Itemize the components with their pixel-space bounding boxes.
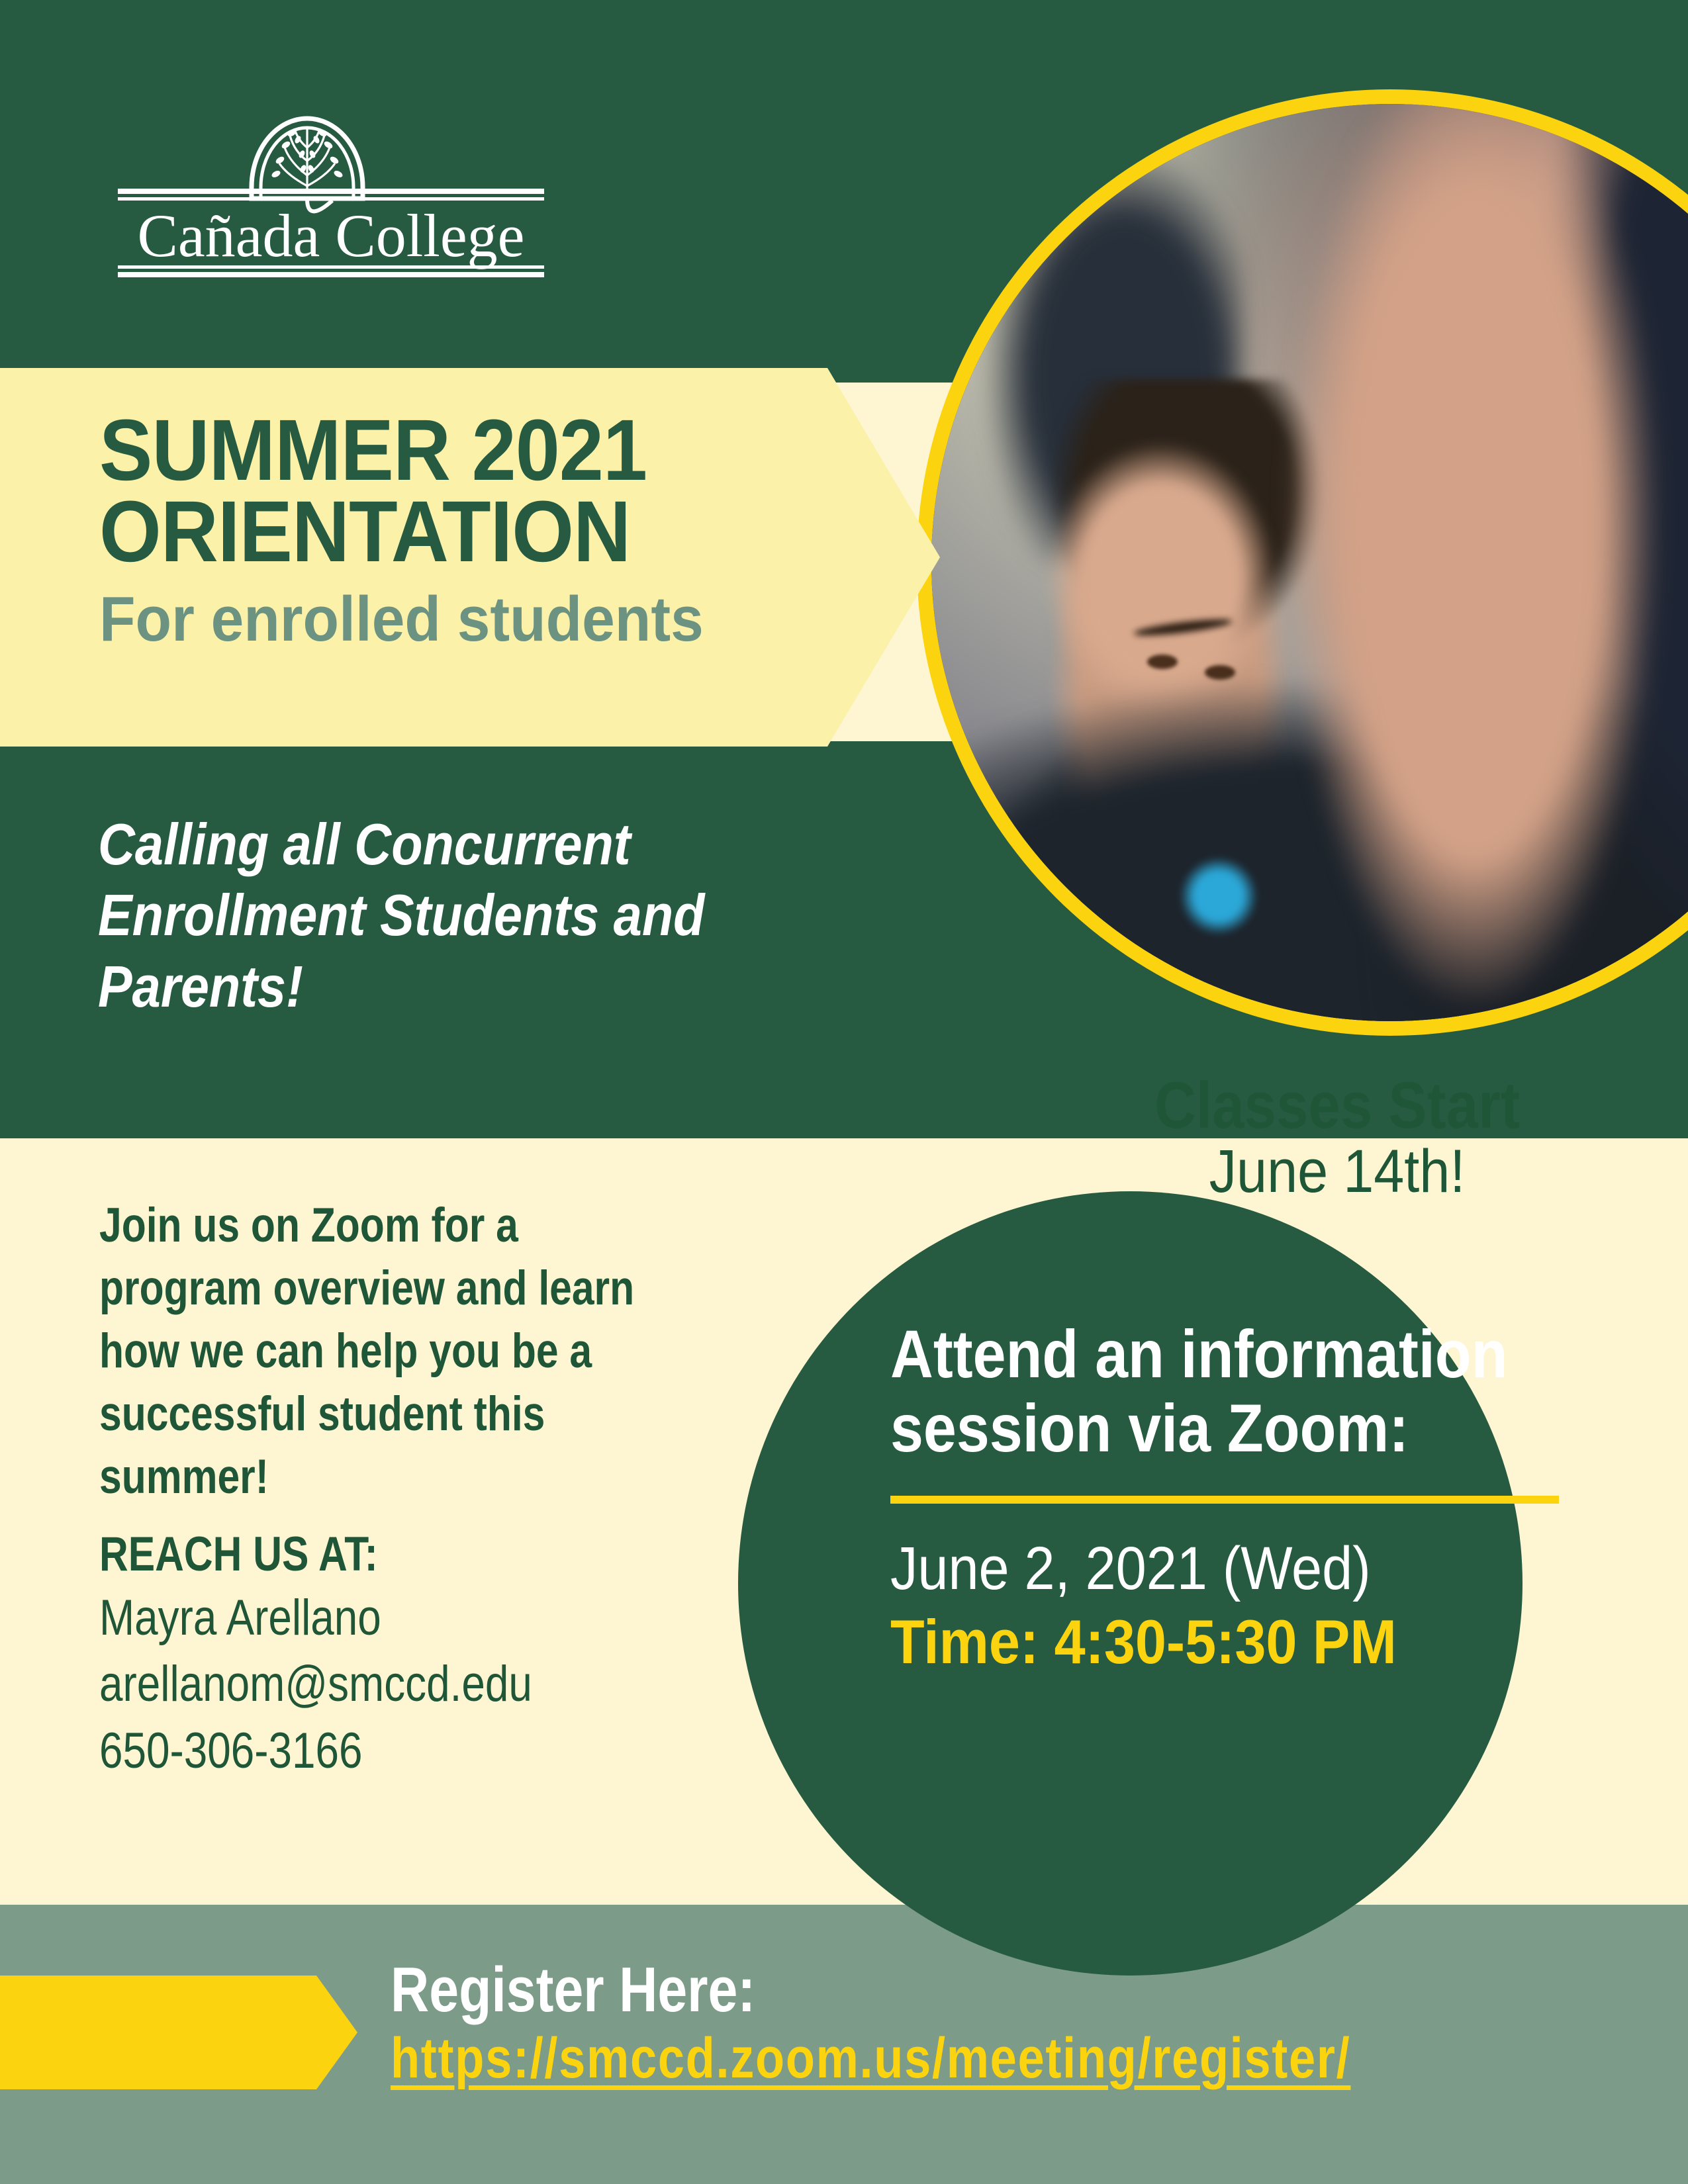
contact-email[interactable]: arellanom@smccd.edu: [99, 1651, 711, 1717]
reach-us-label: REACH US AT:: [99, 1525, 378, 1584]
canada-college-logo: Cañada College: [86, 76, 576, 295]
page-title: SUMMER 2021 ORIENTATION: [99, 409, 872, 572]
photo-student-foreground: [1280, 104, 1688, 1021]
title-banner: SUMMER 2021 ORIENTATION For enrolled stu…: [0, 368, 940, 747]
session-divider: [890, 1496, 1559, 1504]
callout-text: Calling all Concurrent Enrollment Studen…: [98, 809, 745, 1022]
photo-hoodie-emblem: [1179, 856, 1258, 936]
flyer-poster: Cañada College Classes Start June 14th! …: [0, 0, 1688, 2184]
page-subtitle: For enrolled students: [99, 586, 881, 653]
footer-register-block: Register Here: https://smccd.zoom.us/mee…: [391, 1958, 1516, 2090]
session-heading: Attend an information session via Zoom:: [890, 1317, 1519, 1465]
contact-name: Mayra Arellano: [99, 1585, 711, 1651]
classes-start-line1: Classes Start: [1075, 1072, 1599, 1138]
contact-phone[interactable]: 650-306-3166: [99, 1718, 711, 1784]
session-date: June 2, 2021 (Wed): [890, 1535, 1534, 1602]
register-label: Register Here:: [391, 1958, 1336, 2023]
body-paragraph: Join us on Zoom for a program overview a…: [99, 1195, 660, 1508]
register-link[interactable]: https://smccd.zoom.us/meeting/register/: [391, 2026, 1336, 2090]
logo-wordmark: Cañada College: [137, 202, 524, 269]
session-time: Time: 4:30-5:30 PM: [890, 1607, 1534, 1676]
photo-eye-left: [1147, 655, 1178, 669]
contact-block: Mayra Arellano arellanom@smccd.edu 650-3…: [99, 1585, 711, 1784]
footer-yellow-tag: [0, 1976, 357, 2089]
student-photo-circle: [917, 89, 1688, 1036]
classes-start-block: Classes Start June 14th!: [1039, 1072, 1635, 1206]
student-photo: [931, 104, 1688, 1021]
session-info-block: Attend an information session via Zoom: …: [890, 1317, 1605, 1676]
